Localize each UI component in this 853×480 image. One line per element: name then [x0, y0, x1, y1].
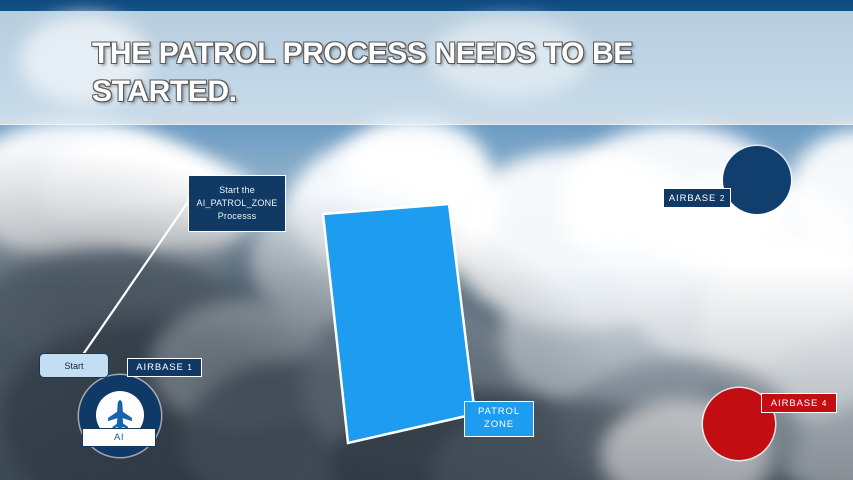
page-title: THE PATROL PROCESS NEEDS TO BE STARTED. — [92, 35, 732, 112]
airbase-2-circle[interactable] — [723, 146, 791, 214]
patrol-zone-line-2: ZONE — [484, 419, 514, 432]
ai-label[interactable]: AI — [82, 428, 156, 447]
airbase-2-label-text: AIRBASE — [669, 193, 716, 204]
patrol-zone-shape[interactable] — [312, 196, 487, 451]
callout-line-3: Processs — [197, 210, 278, 223]
airbase-2-number: 2 — [720, 194, 725, 203]
ai-label-text: AI — [114, 432, 124, 443]
airbase-1-label-text: AIRBASE — [136, 362, 183, 373]
airbase-2-label[interactable]: AIRBASE 2 — [663, 188, 731, 208]
process-callout-box: Start the AI_PATROL_ZONE Processs — [188, 175, 286, 232]
patrol-zone-line-1: PATROL — [478, 406, 520, 419]
airbase-1-number: 1 — [187, 363, 192, 372]
airbase-1-label[interactable]: AIRBASE 1 — [127, 358, 202, 377]
start-button[interactable]: Start — [39, 353, 109, 378]
callout-line-1: Start the — [197, 184, 278, 197]
title-band: THE PATROL PROCESS NEEDS TO BE STARTED. — [0, 11, 853, 125]
airbase-4-label[interactable]: AIRBASE 4 — [761, 393, 837, 413]
callout-line-2: AI_PATROL_ZONE — [197, 197, 278, 210]
patrol-zone-label[interactable]: PATROL ZONE — [464, 401, 534, 437]
airbase-4-label-text: AIRBASE — [771, 398, 818, 409]
slide-canvas: THE PATROL PROCESS NEEDS TO BE STARTED. … — [0, 0, 853, 480]
airbase-4-number: 4 — [822, 399, 827, 408]
start-button-label: Start — [64, 361, 83, 371]
